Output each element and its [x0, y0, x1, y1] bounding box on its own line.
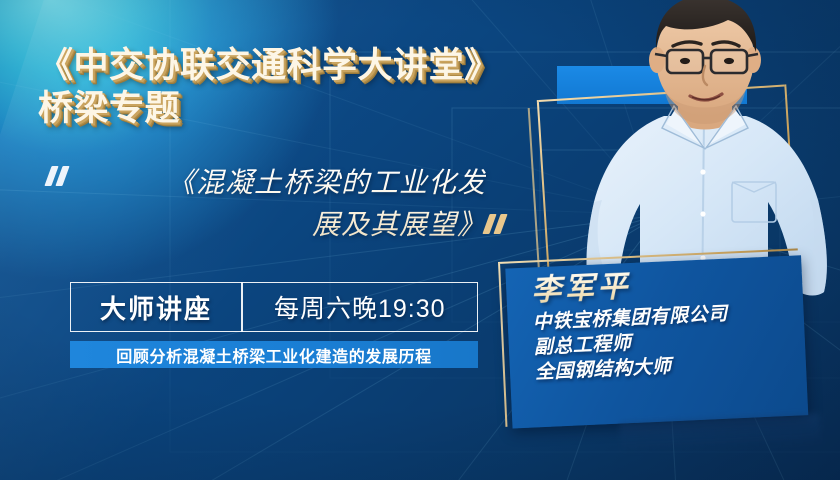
- poster-canvas: 《中交协联交通科学大讲堂》 桥梁专题 《混凝土桥梁的工业化发 展及其展望》 大师…: [0, 0, 840, 480]
- quote-close-mark-icon: [486, 214, 516, 234]
- tagline-bar: 回顾分析混凝土桥梁工业化建造的发展历程: [70, 341, 478, 368]
- speaker-info-panel: 李军平 中铁宝桥集团有限公司 副总工程师 全国钢结构大师: [498, 248, 805, 426]
- badge-schedule: 每周六晚19:30: [243, 289, 478, 325]
- quote-open-mark-icon: [48, 166, 78, 186]
- badge-label: 大师讲座: [71, 289, 241, 326]
- speaker-details: 李军平 中铁宝桥集团有限公司 副总工程师 全国钢结构大师: [531, 261, 796, 386]
- lecture-badge: 大师讲座 每周六晚19:30: [70, 282, 478, 332]
- page-title: 《中交协联交通科学大讲堂》 桥梁专题: [38, 44, 558, 130]
- lecture-title: 《混凝土桥梁的工业化发 展及其展望》: [86, 162, 486, 246]
- lecture-quote-block: 《混凝土桥梁的工业化发 展及其展望》: [44, 160, 524, 270]
